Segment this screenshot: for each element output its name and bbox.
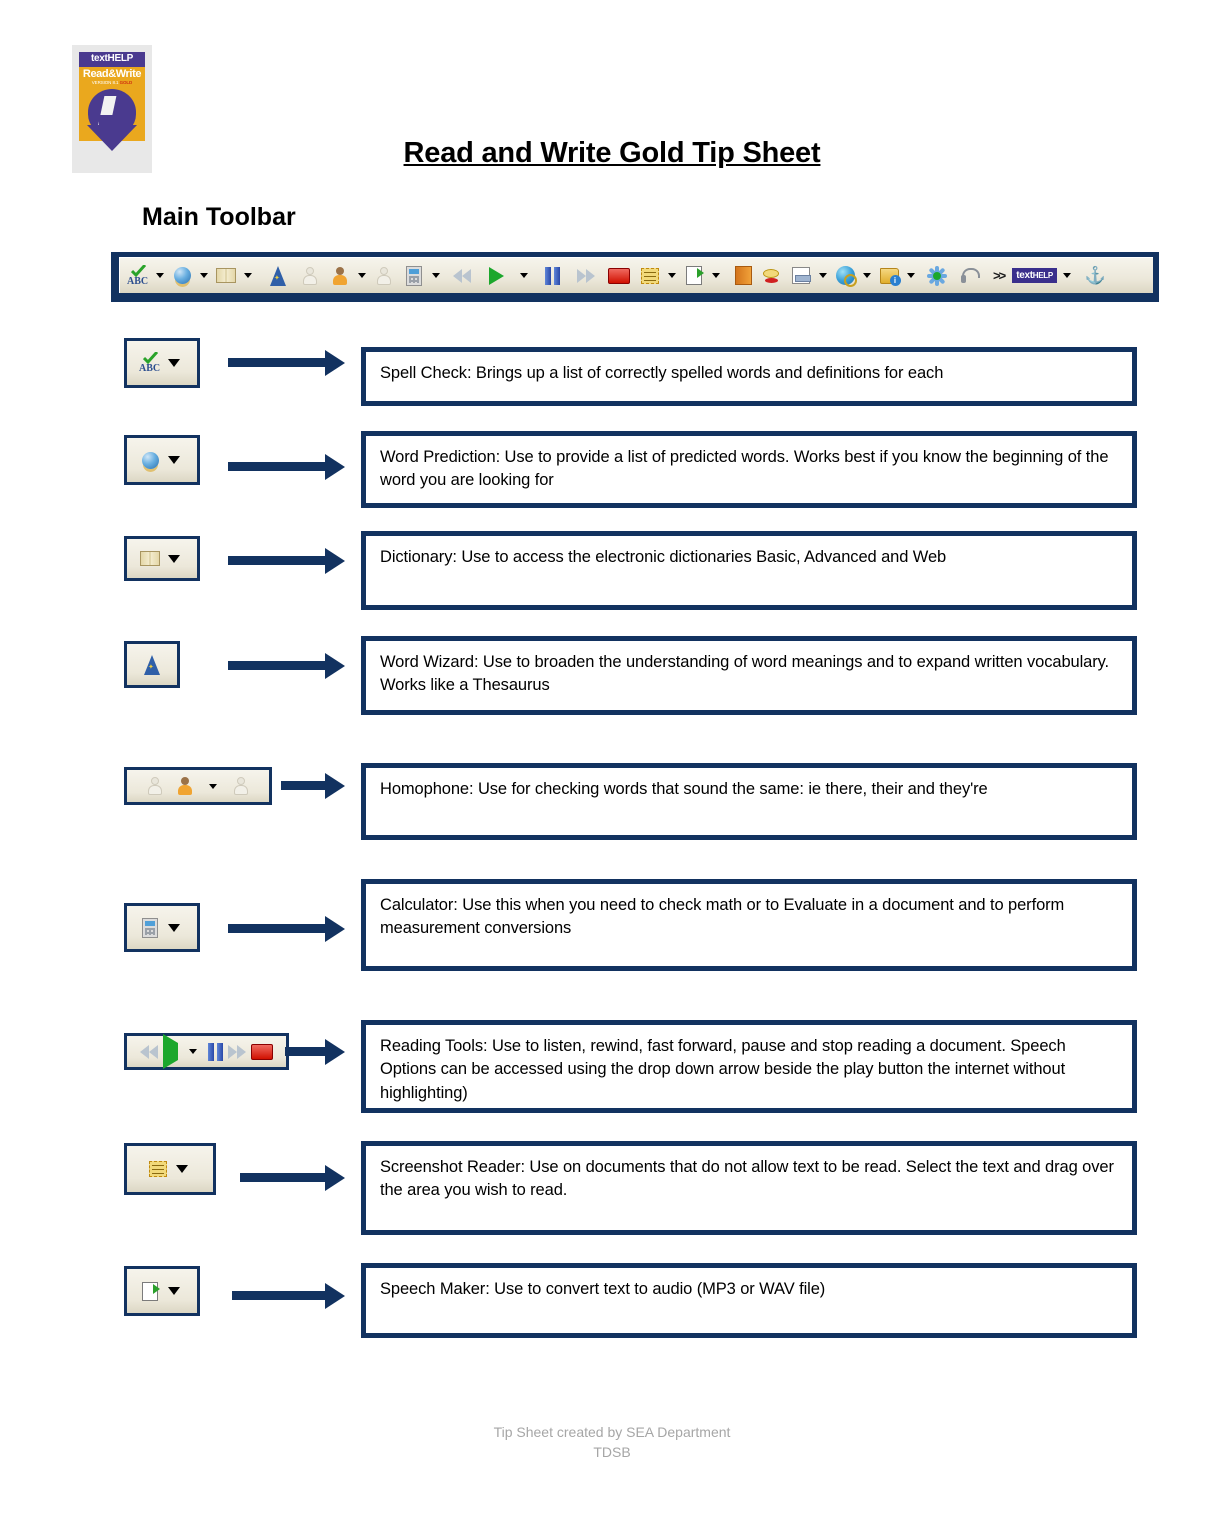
play-icon (484, 264, 508, 288)
section-heading: Main Toolbar (142, 203, 296, 232)
logo-version: VERSION 8.1 GOLD (79, 80, 145, 85)
anchor-icon: ⚓ (1085, 267, 1106, 284)
logo-brand-band: textHELP (79, 52, 145, 67)
description-text: Speech Maker: Use to convert text to aud… (380, 1278, 1118, 1301)
toolbar-fact-folder-button[interactable] (877, 258, 901, 293)
homophone-dropdown-caret[interactable] (358, 273, 366, 278)
icon-callout-homophone[interactable] (124, 767, 272, 805)
word-wizard-icon (266, 264, 290, 288)
page-title: Read and Write Gold Tip Sheet (0, 137, 1224, 170)
calculator-icon (138, 916, 162, 940)
scan-icon (789, 264, 813, 288)
toolbar-dictionary-button[interactable] (214, 258, 238, 293)
toolbar-rewind-button[interactable] (450, 258, 474, 293)
dictionary-icon (214, 264, 238, 288)
dropdown-caret[interactable] (168, 555, 180, 563)
word-prediction-dropdown-caret[interactable] (200, 273, 208, 278)
callout-arrow-shaft (228, 462, 325, 471)
speech-maker-icon (138, 1279, 162, 1303)
description-box-dictionary: Dictionary: Use to access the electronic… (361, 531, 1137, 610)
icon-callout-word-prediction[interactable] (124, 435, 200, 485)
callout-arrow-shaft (285, 1047, 325, 1056)
screenshot-reader-dropdown-caret[interactable] (668, 273, 676, 278)
logo-product-name: Read&Write (79, 69, 145, 81)
screenshot-reader-icon (146, 1157, 170, 1181)
icon-callout-reading-tools[interactable] (124, 1033, 289, 1070)
toolbar-stop-button[interactable] (608, 258, 630, 293)
headphone-icon (957, 264, 981, 288)
toolbar-scan-button[interactable] (789, 258, 813, 293)
spell-check-icon: ABC (138, 351, 162, 375)
toolbar-homophone-button[interactable] (328, 258, 352, 293)
dropdown-caret[interactable] (189, 1049, 197, 1054)
spell-check-dropdown-caret[interactable] (156, 273, 164, 278)
logo-product-band: Read&Write VERSION 8.1 GOLD (79, 67, 145, 141)
logo-down-arrow-glyph (87, 125, 137, 151)
toolbar-spell-check-button[interactable]: ABC (126, 258, 150, 293)
fast-forward-icon (574, 264, 598, 288)
description-text: Reading Tools: Use to listen, rewind, fa… (380, 1035, 1118, 1105)
dropdown-caret[interactable] (168, 456, 180, 464)
callout-arrow-shaft (232, 1291, 325, 1300)
stop-icon (608, 268, 630, 284)
play-icon (163, 1043, 178, 1061)
logo-edition: GOLD (120, 80, 133, 85)
pronunciation-icon (731, 264, 755, 288)
callout-arrow-head (325, 454, 345, 480)
icon-callout-speech-maker[interactable] (124, 1266, 200, 1316)
callout-arrow-head (325, 1283, 345, 1309)
icon-callout-dictionary[interactable] (124, 536, 200, 581)
callout-arrow-head (325, 653, 345, 679)
description-text: Word Wizard: Use to broaden the understa… (380, 651, 1118, 698)
dropdown-caret[interactable] (168, 1287, 180, 1295)
toolbar-play-button[interactable] (484, 258, 508, 293)
calculator-dropdown-caret[interactable] (432, 273, 440, 278)
screenshot-reader-icon (638, 264, 662, 288)
callout-arrow-head (325, 916, 345, 942)
toolbar-speech-bubble-button[interactable] (760, 258, 784, 293)
dictionary-dropdown-caret[interactable] (244, 273, 252, 278)
description-text: Word Prediction: Use to provide a list o… (380, 446, 1118, 493)
word-prediction-icon (170, 264, 194, 288)
description-text: Screenshot Reader: Use on documents that… (380, 1156, 1118, 1203)
rewind-icon (450, 264, 474, 288)
toolbar-homophone-prev-button[interactable] (298, 258, 322, 293)
toolbar-fact-finder-button[interactable] (833, 258, 857, 293)
callout-arrow-shaft (228, 556, 325, 565)
toolbar-word-prediction-button[interactable] (170, 258, 194, 293)
description-box-screenshot-reader: Screenshot Reader: Use on documents that… (361, 1141, 1137, 1235)
homophone-icon (173, 774, 197, 798)
icon-callout-word-wizard[interactable] (124, 641, 180, 688)
speech-maker-icon (682, 264, 706, 288)
callout-arrow-head (325, 548, 345, 574)
toolbar-word-wizard-button[interactable] (266, 258, 290, 293)
overflow-chevron-icon[interactable]: >> (993, 268, 1004, 283)
callout-arrow-shaft (228, 661, 325, 670)
pause-icon (540, 264, 564, 288)
callout-arrow-head (325, 350, 345, 376)
description-text: Calculator: Use this when you need to ch… (380, 894, 1118, 941)
callout-arrow-shaft (228, 924, 325, 933)
homophone-icon (328, 264, 352, 288)
icon-callout-spell-check[interactable]: ABC (124, 338, 200, 388)
logo-brand-text: textHELP (91, 53, 133, 64)
pause-icon (208, 1043, 223, 1061)
toolbar-headphone-button[interactable] (957, 258, 981, 293)
icon-callout-calculator[interactable] (124, 903, 200, 952)
fast-forward-icon (228, 1045, 246, 1059)
description-box-spell-check: Spell Check: Brings up a list of correct… (361, 347, 1137, 406)
texthelp-logo-icon: textHELP (1012, 268, 1057, 283)
footer-line-1: Tip Sheet created by SEA Department (0, 1422, 1224, 1442)
word-prediction-icon (138, 448, 162, 472)
description-box-calculator: Calculator: Use this when you need to ch… (361, 879, 1137, 971)
dropdown-caret[interactable] (168, 924, 180, 932)
rewind-icon (140, 1045, 158, 1059)
calculator-icon (402, 264, 426, 288)
description-text: Spell Check: Brings up a list of correct… (380, 362, 1118, 385)
toolbar-calculator-button[interactable] (402, 258, 426, 293)
toolbar-speech-maker-button[interactable] (682, 258, 706, 293)
callout-arrow-head (325, 773, 345, 799)
fact-folder-dropdown-caret[interactable] (907, 273, 915, 278)
description-box-word-prediction: Word Prediction: Use to provide a list o… (361, 431, 1137, 508)
description-box-speech-maker: Speech Maker: Use to convert text to aud… (361, 1263, 1137, 1338)
footer-line-2: TDSB (0, 1442, 1224, 1462)
stop-icon (251, 1044, 273, 1060)
description-box-homophone: Homophone: Use for checking words that s… (361, 763, 1137, 840)
daisy-icon (925, 264, 949, 288)
description-box-reading-tools: Reading Tools: Use to listen, rewind, fa… (361, 1020, 1137, 1113)
toolbar-pronunciation-button[interactable] (731, 258, 755, 293)
speech-bubble-icon (760, 264, 784, 288)
scan-dropdown-caret[interactable] (819, 273, 827, 278)
toolbar-fast-forward-button[interactable] (574, 258, 598, 293)
toolbar-daisy-reader-button[interactable] (925, 258, 949, 293)
toolbar-pause-button[interactable] (540, 258, 564, 293)
icon-callout-screenshot-reader[interactable] (124, 1143, 216, 1195)
toolbar-screenshot-reader-button[interactable] (638, 258, 662, 293)
homophone-ghost-icon (143, 774, 167, 798)
fact-folder-icon (877, 264, 901, 288)
description-text: Homophone: Use for checking words that s… (380, 778, 1118, 801)
homophone-ghost-icon (298, 264, 322, 288)
description-box-word-wizard: Word Wizard: Use to broaden the understa… (361, 636, 1137, 715)
main-toolbar[interactable]: ABC (111, 252, 1159, 302)
dictionary-icon (138, 547, 162, 571)
dropdown-caret[interactable] (176, 1165, 188, 1173)
dropdown-caret[interactable] (168, 359, 180, 367)
word-wizard-icon (140, 653, 164, 677)
fact-finder-dropdown-caret[interactable] (863, 273, 871, 278)
toolbar-texthelp-button[interactable]: textHELP (1012, 258, 1057, 293)
callout-arrow-shaft (281, 781, 325, 790)
callout-arrow-head (325, 1039, 345, 1065)
play-dropdown-caret[interactable] (520, 273, 528, 278)
homophone-ghost-icon (229, 774, 253, 798)
spell-check-icon: ABC (126, 264, 150, 288)
speech-maker-dropdown-caret[interactable] (712, 273, 720, 278)
callout-arrow-shaft (228, 358, 325, 367)
description-text: Dictionary: Use to access the electronic… (380, 546, 1118, 569)
toolbar-homophone-next-button[interactable] (372, 258, 396, 293)
dropdown-caret[interactable] (209, 784, 217, 789)
texthelp-dropdown-caret[interactable] (1063, 273, 1071, 278)
toolbar-anchor-button[interactable]: ⚓ (1085, 258, 1106, 293)
callout-arrow-shaft (240, 1173, 325, 1182)
page-footer: Tip Sheet created by SEA Department TDSB (0, 1422, 1224, 1463)
callout-arrow-head (325, 1165, 345, 1191)
fact-finder-icon (833, 264, 857, 288)
homophone-ghost-icon (372, 264, 396, 288)
